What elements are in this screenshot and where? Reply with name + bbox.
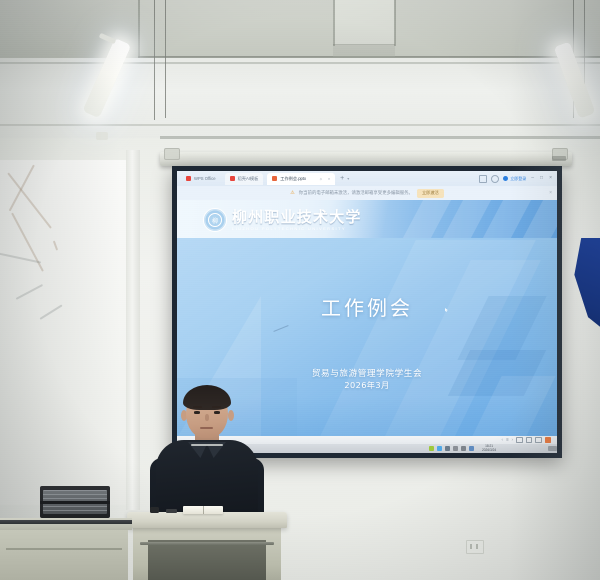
wps-icon — [186, 176, 191, 181]
notification-bar: ⚠ 你当前的电子邮箱未激活，请激活邮箱享受更多编辑服务。 立即激活 × — [177, 186, 557, 200]
tab-label: WPS Office — [194, 176, 216, 181]
tab-close-icon[interactable]: × — [328, 176, 330, 181]
presenter-remote — [150, 507, 159, 513]
user-avatar-icon — [503, 176, 508, 181]
view-normal-button[interactable] — [516, 437, 523, 444]
login-label: 立即登录 — [510, 176, 526, 182]
view-sorter-button[interactable] — [526, 437, 533, 444]
lectern-shelf — [148, 540, 266, 580]
hair — [183, 385, 231, 410]
counter-seam — [6, 548, 122, 550]
university-name-en: LIUZHOU POLYTECHNIC UNIVERSITY — [232, 227, 362, 231]
sidebar-icon[interactable] — [479, 175, 487, 183]
eye-right — [214, 411, 220, 414]
new-tab-button[interactable]: + — [340, 175, 344, 182]
chevron-down-icon[interactable]: ▾ — [347, 176, 349, 181]
socket-slot — [470, 544, 472, 549]
taskbar-icon-app3[interactable] — [445, 446, 450, 451]
window-controls: 立即登录 – □ × — [479, 175, 557, 183]
university-name-cn: 柳州职业技术大学 — [232, 210, 362, 225]
whiteboard-mark — [11, 213, 44, 272]
housing-bracket — [164, 148, 180, 160]
tab-template[interactable]: 稻壳AI模板 — [225, 173, 264, 185]
whiteboard-mark — [53, 240, 58, 250]
notification-close-icon[interactable]: × — [549, 190, 552, 196]
wall-trim-line — [0, 124, 600, 126]
university-logo: 柳 柳州职业技术大学 LIUZHOU POLYTECHNIC UNIVERSIT… — [203, 208, 362, 232]
slide-subtitle-org: 贸易与旅游管理学院学生会 — [177, 368, 557, 380]
decor-diagonal — [383, 260, 541, 436]
taskbar-icon-app6[interactable] — [469, 446, 474, 451]
wall-socket — [466, 540, 484, 554]
book-spine — [203, 506, 204, 514]
notification-text: 你当前的电子邮箱未激活，请激活邮箱享受更多编辑服务。 — [299, 190, 413, 196]
prev-slide-button[interactable]: ‹ — [502, 438, 503, 442]
close-button[interactable]: × — [548, 176, 553, 181]
ceiling-seam — [138, 0, 140, 58]
tab-wps-office[interactable]: WPS Office — [181, 173, 221, 185]
ceiling-panel — [138, 0, 333, 57]
screen-artifact — [273, 325, 288, 332]
taskbar-icon-app5[interactable] — [461, 446, 466, 451]
whiteboard-mark — [16, 284, 43, 299]
activate-button[interactable]: 立即激活 — [417, 189, 444, 198]
eyebrow-left — [193, 406, 202, 408]
tab-label: 稻壳AI模板 — [238, 176, 259, 182]
projector-screen-housing — [160, 152, 572, 166]
wall-trim-line — [160, 136, 600, 139]
whiteboard — [0, 160, 134, 505]
ear-right — [228, 410, 234, 421]
ceiling-seam — [394, 0, 396, 46]
mobile-phone — [166, 509, 177, 513]
gear-icon[interactable] — [491, 175, 499, 183]
whiteboard-mark — [39, 304, 62, 319]
tab-active-presentation[interactable]: 工作例会.pptx ☼ × — [267, 173, 335, 185]
tab-pin-icon[interactable]: ☼ — [319, 176, 323, 181]
side-counter — [0, 530, 128, 580]
slide-menu-button[interactable]: ≡ — [506, 438, 509, 442]
collar-stripe — [191, 444, 223, 446]
eyebrow-right — [212, 406, 221, 408]
nose — [205, 414, 209, 421]
taskbar-date: 2026/3/24 — [482, 448, 496, 452]
wall-trim-line — [0, 62, 600, 64]
taskbar-icon-app4[interactable] — [453, 446, 458, 451]
tray-band — [40, 501, 110, 504]
login-button[interactable]: 立即登录 — [503, 176, 526, 182]
ppt-icon — [272, 176, 277, 181]
tab-label: 工作例会.pptx — [280, 176, 306, 182]
university-name-block: 柳州职业技术大学 LIUZHOU POLYTECHNIC UNIVERSITY — [232, 210, 362, 231]
open-book — [183, 506, 223, 514]
socket-slot — [476, 544, 478, 549]
university-seal-icon: 柳 — [203, 208, 227, 232]
seal-inner-glyph: 柳 — [208, 213, 222, 227]
taskbar-clock[interactable]: 18:21 2026/3/24 — [482, 445, 496, 452]
view-reading-button[interactable] — [535, 437, 542, 444]
classroom-scene: WPS Office 稻壳AI模板 工作例会.pptx ☼ × + ▾ 立即登录 — [0, 0, 600, 580]
light-chain — [154, 0, 155, 120]
ceiling-seam — [333, 0, 335, 46]
housing-label — [552, 156, 566, 161]
warning-icon: ⚠ — [290, 190, 294, 196]
taskbar-icon-app2[interactable] — [437, 446, 442, 451]
next-slide-button[interactable]: › — [512, 438, 513, 442]
play-slideshow-button[interactable] — [545, 437, 552, 444]
side-counter-rail — [0, 520, 132, 524]
wall-column — [126, 150, 140, 510]
browser-tab-bar: WPS Office 稻壳AI模板 工作例会.pptx ☼ × + ▾ 立即登录 — [177, 171, 557, 186]
maximize-button[interactable]: □ — [539, 176, 544, 181]
template-icon — [230, 176, 235, 181]
ceiling-panel — [333, 0, 395, 45]
minimize-button[interactable]: – — [530, 176, 535, 181]
decor-diagonal — [318, 240, 536, 436]
lectern-rail — [140, 542, 274, 545]
light-chain — [165, 0, 166, 118]
equipment-tray — [40, 486, 110, 518]
taskbar-icon-app1[interactable] — [429, 446, 434, 451]
wall-mount — [96, 132, 108, 140]
eye-left — [194, 411, 200, 414]
taskbar-show-desktop[interactable] — [548, 446, 557, 451]
slide-title: 工作例会 — [177, 292, 557, 321]
lectern-podium — [127, 512, 287, 528]
